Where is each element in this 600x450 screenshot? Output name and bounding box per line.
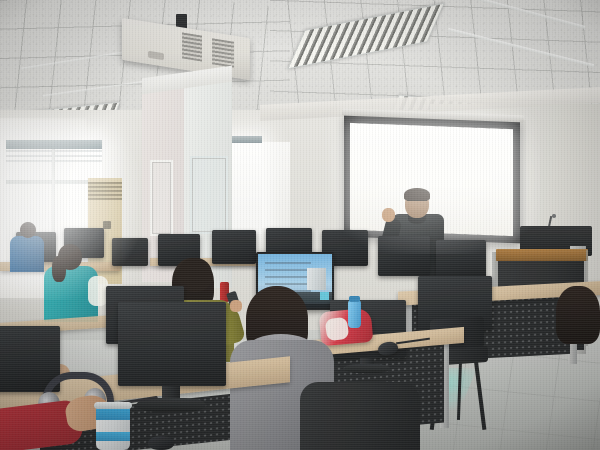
cup-band: [96, 432, 130, 441]
water-bottle: [348, 300, 361, 328]
student-dark-coat: [300, 382, 420, 450]
monitor: [378, 236, 430, 276]
window-header: [6, 140, 102, 149]
student-arm: [88, 276, 108, 306]
cup-lid: [94, 402, 132, 409]
wall-panel-notice: [190, 156, 228, 234]
microphone-icon: [552, 214, 556, 218]
monitor-base: [344, 364, 390, 373]
lectern-worktop: [496, 249, 588, 261]
instructor-glasses: [407, 200, 427, 205]
screen-tile: [320, 292, 329, 301]
classroom-photo: [0, 0, 600, 450]
student-right-edge: [556, 286, 600, 344]
monitor: [436, 240, 486, 278]
mouse: [148, 436, 174, 450]
instructor-hand: [382, 208, 395, 222]
projector-vent: [182, 32, 202, 61]
projector-vent: [212, 38, 234, 67]
student-head: [20, 222, 36, 238]
monitor-foreground: [118, 302, 226, 386]
bottle-cap: [349, 296, 360, 302]
monitor: [212, 230, 256, 264]
student-head: [58, 244, 82, 270]
screen-building-secondary: [307, 268, 326, 290]
student-blue-jacket: [10, 236, 44, 272]
air-conditioner-badge: [103, 221, 111, 229]
monitor: [112, 238, 148, 266]
student-hand: [230, 300, 242, 312]
wall-panel-notice: [150, 160, 173, 236]
air-conditioner-grille: [88, 182, 122, 200]
